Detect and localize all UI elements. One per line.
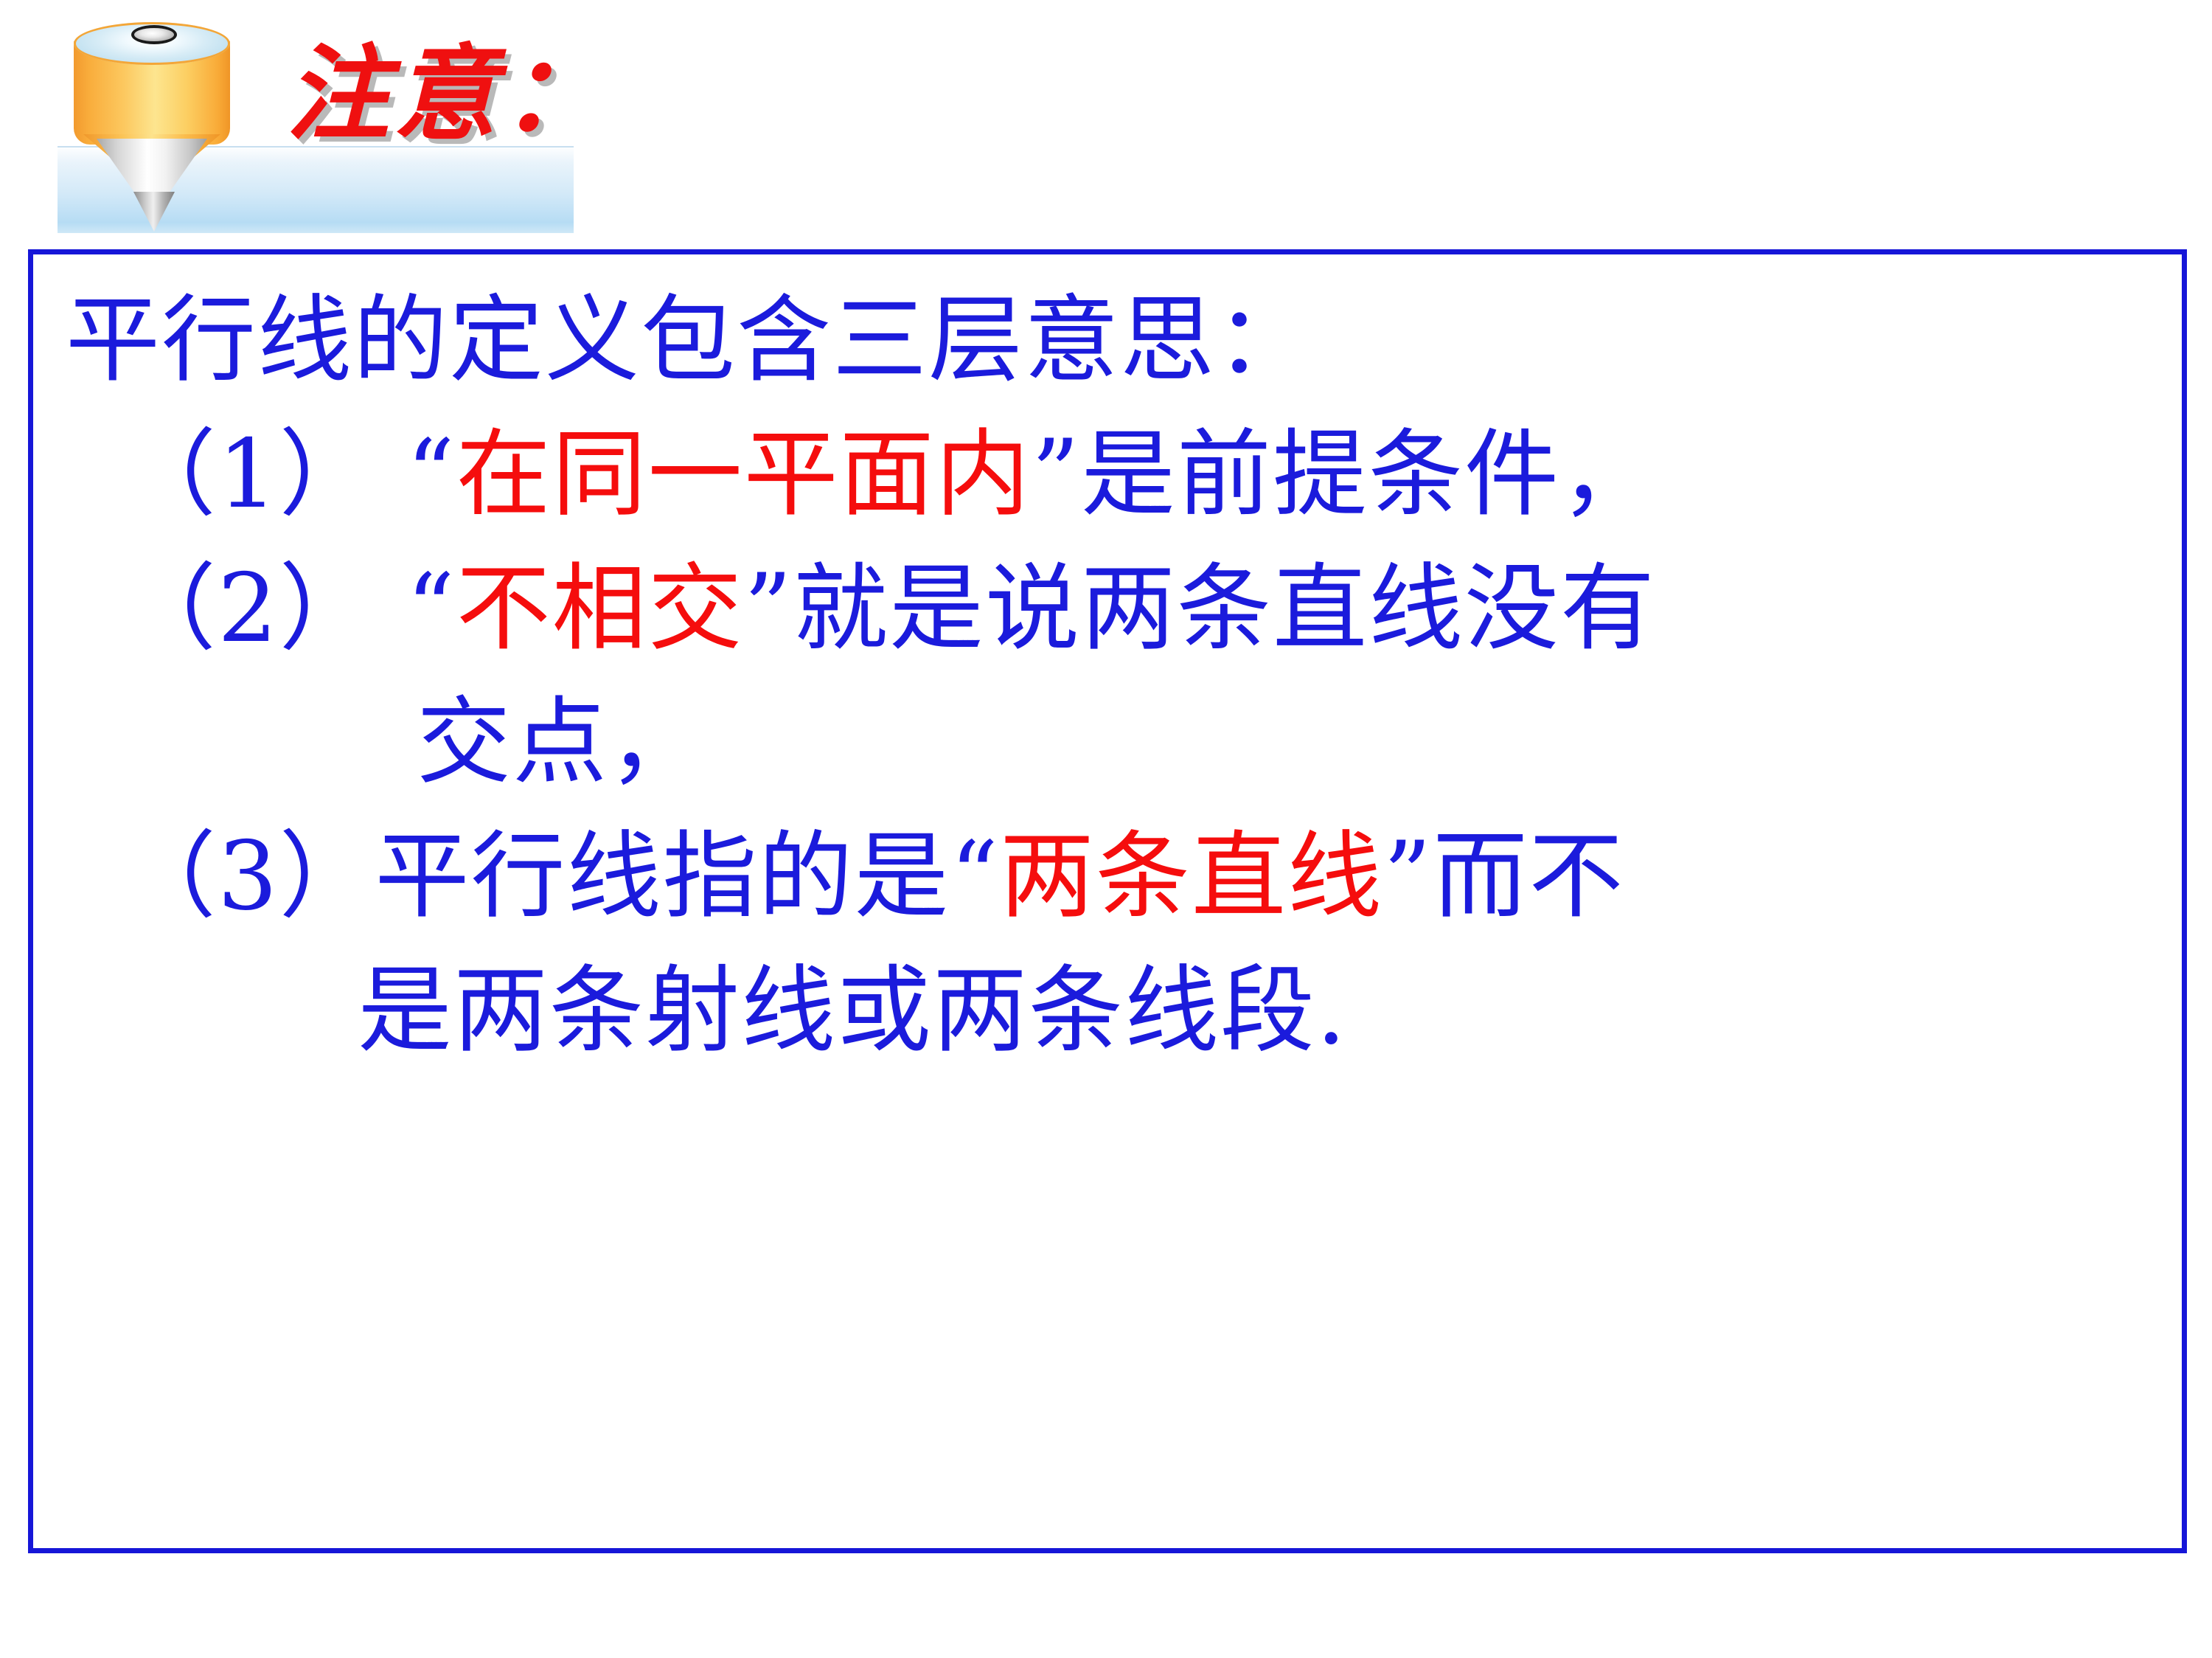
- item-1-marker: （1）: [122, 420, 375, 530]
- item-1-highlight: 在同一平面内: [456, 420, 1032, 530]
- item-3-marker: （3）: [122, 822, 375, 932]
- item-2-rest: 就是说两条直线没有: [793, 554, 1656, 664]
- item-1-rest: 是前提条件，: [1081, 420, 1656, 530]
- spinning-top-icon: [63, 16, 248, 230]
- item-2-open-quote: “: [406, 554, 456, 664]
- item-3-open-quote: “: [950, 822, 999, 932]
- definition-item-1: （1） “在同一平面内”是前提条件，: [33, 408, 2182, 542]
- definition-item-2: （2） “不相交”就是说两条直线没有: [33, 542, 2182, 676]
- item-1-close-quote: ”: [1032, 420, 1081, 530]
- attention-heading: 注意：: [286, 43, 609, 146]
- definition-item-3-continuation: 是两条射线或两条线段.: [33, 944, 2182, 1078]
- spinning-top-knob-icon: [131, 25, 177, 44]
- definition-item-2-continuation: 交点，: [33, 676, 2182, 810]
- definition-content-box: 平行线的定义包含三层意思： （1） “在同一平面内”是前提条件， （2） “不相…: [28, 249, 2187, 1553]
- item-2-close-quote: ”: [744, 554, 793, 664]
- item-3-highlight: 两条直线: [1000, 822, 1383, 932]
- item-3-lead: 平行线指的是: [375, 822, 950, 932]
- item-2-highlight: 不相交: [456, 554, 744, 664]
- definition-lines: 平行线的定义包含三层意思： （1） “在同一平面内”是前提条件， （2） “不相…: [33, 254, 2182, 1078]
- item-2-marker: （2）: [122, 554, 375, 664]
- spinning-top-tip-shape: [133, 192, 175, 232]
- definition-title-line: 平行线的定义包含三层意思：: [33, 274, 2182, 408]
- item-3-rest: 而不: [1433, 822, 1624, 932]
- definition-item-3: （3）平行线指的是“两条直线”而不: [33, 810, 2182, 944]
- item-3-close-quote: ”: [1383, 822, 1433, 932]
- header-banner: 注意：: [0, 0, 590, 243]
- item-1-open-quote: “: [406, 420, 456, 530]
